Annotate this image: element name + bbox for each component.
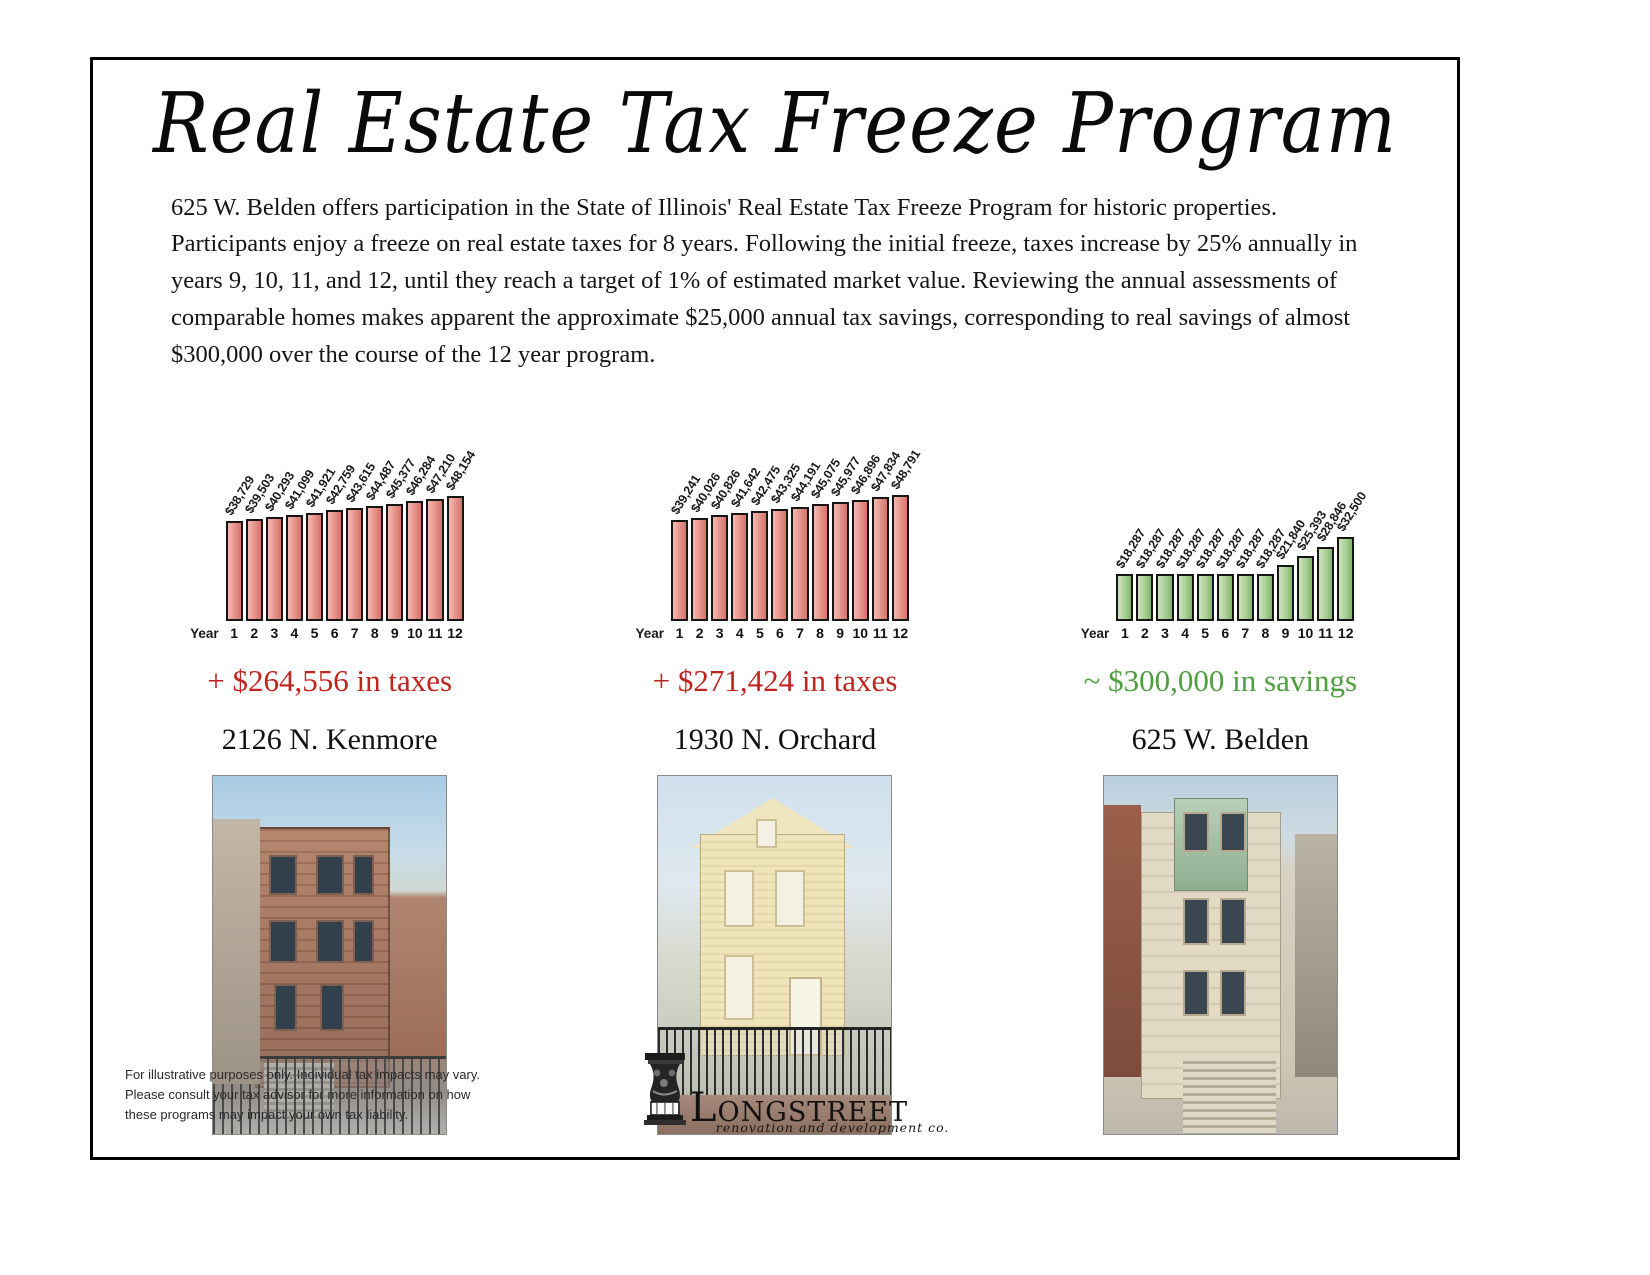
summary-belden: ~ $300,000 in savings xyxy=(1084,663,1357,699)
bar-item: $18,287 xyxy=(1257,486,1274,621)
x-tick: 2 xyxy=(691,625,708,641)
x-tick: 1 xyxy=(226,625,243,641)
disclaimer-line-1: For illustrative purposes only. Individu… xyxy=(125,1065,480,1085)
bar: $43,325 xyxy=(771,509,788,621)
x-tick-labels: 123456789101112 xyxy=(226,625,464,641)
bar-item: $40,293 xyxy=(266,486,283,621)
bar: $39,503 xyxy=(246,519,263,622)
bar: $46,284 xyxy=(406,501,423,621)
x-tick: 10 xyxy=(1297,625,1314,641)
x-axis-orchard: Year 123456789101112 xyxy=(625,625,925,641)
bar-item: $18,287 xyxy=(1177,486,1194,621)
intro-paragraph: 625 W. Belden offers participation in th… xyxy=(171,190,1379,374)
bar-chart-belden: $18,287$18,287$18,287$18,287$18,287$18,2… xyxy=(1070,391,1370,621)
x-tick-labels: 123456789101112 xyxy=(671,625,909,641)
bar: $41,099 xyxy=(286,515,303,622)
x-tick: 3 xyxy=(711,625,728,641)
axis-title-year: Year xyxy=(180,626,226,641)
bar: $46,896 xyxy=(852,500,869,622)
x-tick: 1 xyxy=(1116,625,1133,641)
disclaimer-line-2: Please consult your tax advisor for more… xyxy=(125,1085,480,1105)
bar: $18,287 xyxy=(1237,574,1254,621)
bar-item: $45,075 xyxy=(812,486,829,621)
bar-group: $18,287$18,287$18,287$18,287$18,287$18,2… xyxy=(1116,486,1354,621)
bar-item: $21,840 xyxy=(1277,486,1294,621)
bar-item: $42,475 xyxy=(751,486,768,621)
bar-item: $40,026 xyxy=(691,486,708,621)
bar: $18,287 xyxy=(1116,574,1133,621)
summary-orchard: + $271,424 in taxes xyxy=(653,663,898,699)
x-tick: 9 xyxy=(1277,625,1294,641)
x-tick: 4 xyxy=(731,625,748,641)
bar: $40,293 xyxy=(266,517,283,622)
bar: $28,846 xyxy=(1317,547,1334,622)
x-tick: 9 xyxy=(832,625,849,641)
bar-item: $25,393 xyxy=(1297,486,1314,621)
bar-group: $38,729$39,503$40,293$41,099$41,921$42,7… xyxy=(226,486,464,621)
bar-item: $48,154 xyxy=(447,486,464,621)
disclaimer-text: For illustrative purposes only. Individu… xyxy=(125,1065,480,1125)
disclaimer-line-3: these programs may impact your own tax l… xyxy=(125,1105,480,1125)
bar: $47,210 xyxy=(426,499,443,622)
bar-chart-orchard: $39,241$40,026$40,826$41,642$42,475$43,3… xyxy=(625,391,925,621)
bar: $40,026 xyxy=(691,518,708,622)
x-tick: 7 xyxy=(1237,625,1254,641)
bar: $38,729 xyxy=(226,521,243,622)
chart-panel-orchard: $39,241$40,026$40,826$41,642$42,475$43,3… xyxy=(552,391,997,1135)
x-tick: 8 xyxy=(366,625,383,641)
x-tick: 2 xyxy=(1136,625,1153,641)
x-tick: 7 xyxy=(346,625,363,641)
axis-title-year: Year xyxy=(1070,626,1116,641)
bar: $45,977 xyxy=(832,502,849,621)
bar: $39,241 xyxy=(671,520,688,622)
bar-item: $18,287 xyxy=(1237,486,1254,621)
x-tick: 10 xyxy=(406,625,423,641)
bar-item: $47,834 xyxy=(872,486,889,621)
bar-item: $28,846 xyxy=(1317,486,1334,621)
bar-item: $41,921 xyxy=(306,486,323,621)
x-tick: 11 xyxy=(426,625,443,641)
x-tick: 4 xyxy=(1177,625,1194,641)
x-tick: 11 xyxy=(872,625,889,641)
bar: $32,500 xyxy=(1337,537,1354,621)
x-tick: 12 xyxy=(1337,625,1354,641)
page-title: Real Estate Tax Freeze Program xyxy=(93,81,1457,168)
chart-panel-kenmore: $38,729$39,503$40,293$41,099$41,921$42,7… xyxy=(107,391,552,1135)
x-tick: 12 xyxy=(447,625,464,641)
x-tick: 10 xyxy=(852,625,869,641)
x-tick: 12 xyxy=(892,625,909,641)
x-axis-kenmore: Year 123456789101112 xyxy=(180,625,480,641)
bar-item: $39,503 xyxy=(246,486,263,621)
address-orchard: 1930 N. Orchard xyxy=(674,723,876,757)
bar-item: $46,896 xyxy=(852,486,869,621)
bar-item: $43,615 xyxy=(346,486,363,621)
bar: $43,615 xyxy=(346,508,363,621)
bar: $18,287 xyxy=(1177,574,1194,621)
charts-row: $38,729$39,503$40,293$41,099$41,921$42,7… xyxy=(93,391,1457,1135)
bar-item: $43,325 xyxy=(771,486,788,621)
corinthian-column-icon xyxy=(642,1051,688,1127)
bar: $42,475 xyxy=(751,511,768,621)
bar-item: $45,977 xyxy=(832,486,849,621)
bar-item: $38,729 xyxy=(226,486,243,621)
x-tick-labels: 123456789101112 xyxy=(1116,625,1354,641)
bar: $45,075 xyxy=(812,504,829,621)
x-tick: 2 xyxy=(246,625,263,641)
x-tick: 1 xyxy=(671,625,688,641)
x-axis-belden: Year 123456789101112 xyxy=(1070,625,1370,641)
bar: $42,759 xyxy=(326,510,343,621)
x-tick: 11 xyxy=(1317,625,1334,641)
logo-tagline: renovation and development co. xyxy=(716,1122,949,1134)
bar-item: $18,287 xyxy=(1217,486,1234,621)
bar-item: $47,210 xyxy=(426,486,443,621)
bar: $47,834 xyxy=(872,497,889,621)
bar: $18,287 xyxy=(1197,574,1214,621)
bar: $18,287 xyxy=(1217,574,1234,621)
bar-item: $41,099 xyxy=(286,486,303,621)
x-tick: 5 xyxy=(306,625,323,641)
x-tick: 9 xyxy=(386,625,403,641)
bar-item: $39,241 xyxy=(671,486,688,621)
bar-item: $48,791 xyxy=(892,486,909,621)
bar: $48,154 xyxy=(447,496,464,621)
bar-value-label: $32,500 xyxy=(1334,490,1369,535)
chart-panel-belden: $18,287$18,287$18,287$18,287$18,287$18,2… xyxy=(998,391,1443,1135)
bar-item: $41,642 xyxy=(731,486,748,621)
poster-canvas: Real Estate Tax Freeze Program 625 W. Be… xyxy=(90,57,1460,1160)
bar: $25,393 xyxy=(1297,556,1314,622)
x-tick: 8 xyxy=(812,625,829,641)
bar-chart-kenmore: $38,729$39,503$40,293$41,099$41,921$42,7… xyxy=(180,391,480,621)
x-tick: 5 xyxy=(1197,625,1214,641)
bar: $41,921 xyxy=(306,513,323,622)
x-tick: 7 xyxy=(791,625,808,641)
x-tick: 8 xyxy=(1257,625,1274,641)
bar: $45,377 xyxy=(386,504,403,622)
bar: $18,287 xyxy=(1257,574,1274,621)
x-tick: 3 xyxy=(1156,625,1173,641)
footer: For illustrative purposes only. Individu… xyxy=(93,1051,1457,1141)
bar-item: $18,287 xyxy=(1136,486,1153,621)
bar: $48,791 xyxy=(892,495,909,622)
x-tick: 6 xyxy=(326,625,343,641)
logo-letter-l: L xyxy=(690,1085,718,1131)
bar-item: $32,500 xyxy=(1337,486,1354,621)
bar-item: $18,287 xyxy=(1116,486,1133,621)
x-tick: 5 xyxy=(751,625,768,641)
bar-item: $44,487 xyxy=(366,486,383,621)
bar-group: $39,241$40,026$40,826$41,642$42,475$43,3… xyxy=(671,486,909,621)
axis-title-year: Year xyxy=(625,626,671,641)
bar-item: $46,284 xyxy=(406,486,423,621)
bar: $18,287 xyxy=(1136,574,1153,621)
x-tick: 4 xyxy=(286,625,303,641)
bar-item: $45,377 xyxy=(386,486,403,621)
x-tick: 3 xyxy=(266,625,283,641)
bar: $21,840 xyxy=(1277,565,1294,622)
summary-kenmore: + $264,556 in taxes xyxy=(207,663,452,699)
address-belden: 625 W. Belden xyxy=(1132,723,1310,757)
address-kenmore: 2126 N. Kenmore xyxy=(222,723,438,757)
bar-item: $18,287 xyxy=(1156,486,1173,621)
longstreet-logo: LONGSTREET renovation and development co… xyxy=(642,1051,908,1127)
bar-item: $18,287 xyxy=(1197,486,1214,621)
bar: $44,487 xyxy=(366,506,383,621)
x-tick: 6 xyxy=(1217,625,1234,641)
bar: $41,642 xyxy=(731,513,748,621)
bar-item: $40,826 xyxy=(711,486,728,621)
x-tick: 6 xyxy=(771,625,788,641)
bar: $40,826 xyxy=(711,515,728,621)
logo-wordmark: LONGSTREET renovation and development co… xyxy=(690,1089,908,1127)
bar: $18,287 xyxy=(1156,574,1173,621)
bar-item: $44,191 xyxy=(791,486,808,621)
bar: $44,191 xyxy=(791,507,808,622)
bar-item: $42,759 xyxy=(326,486,343,621)
